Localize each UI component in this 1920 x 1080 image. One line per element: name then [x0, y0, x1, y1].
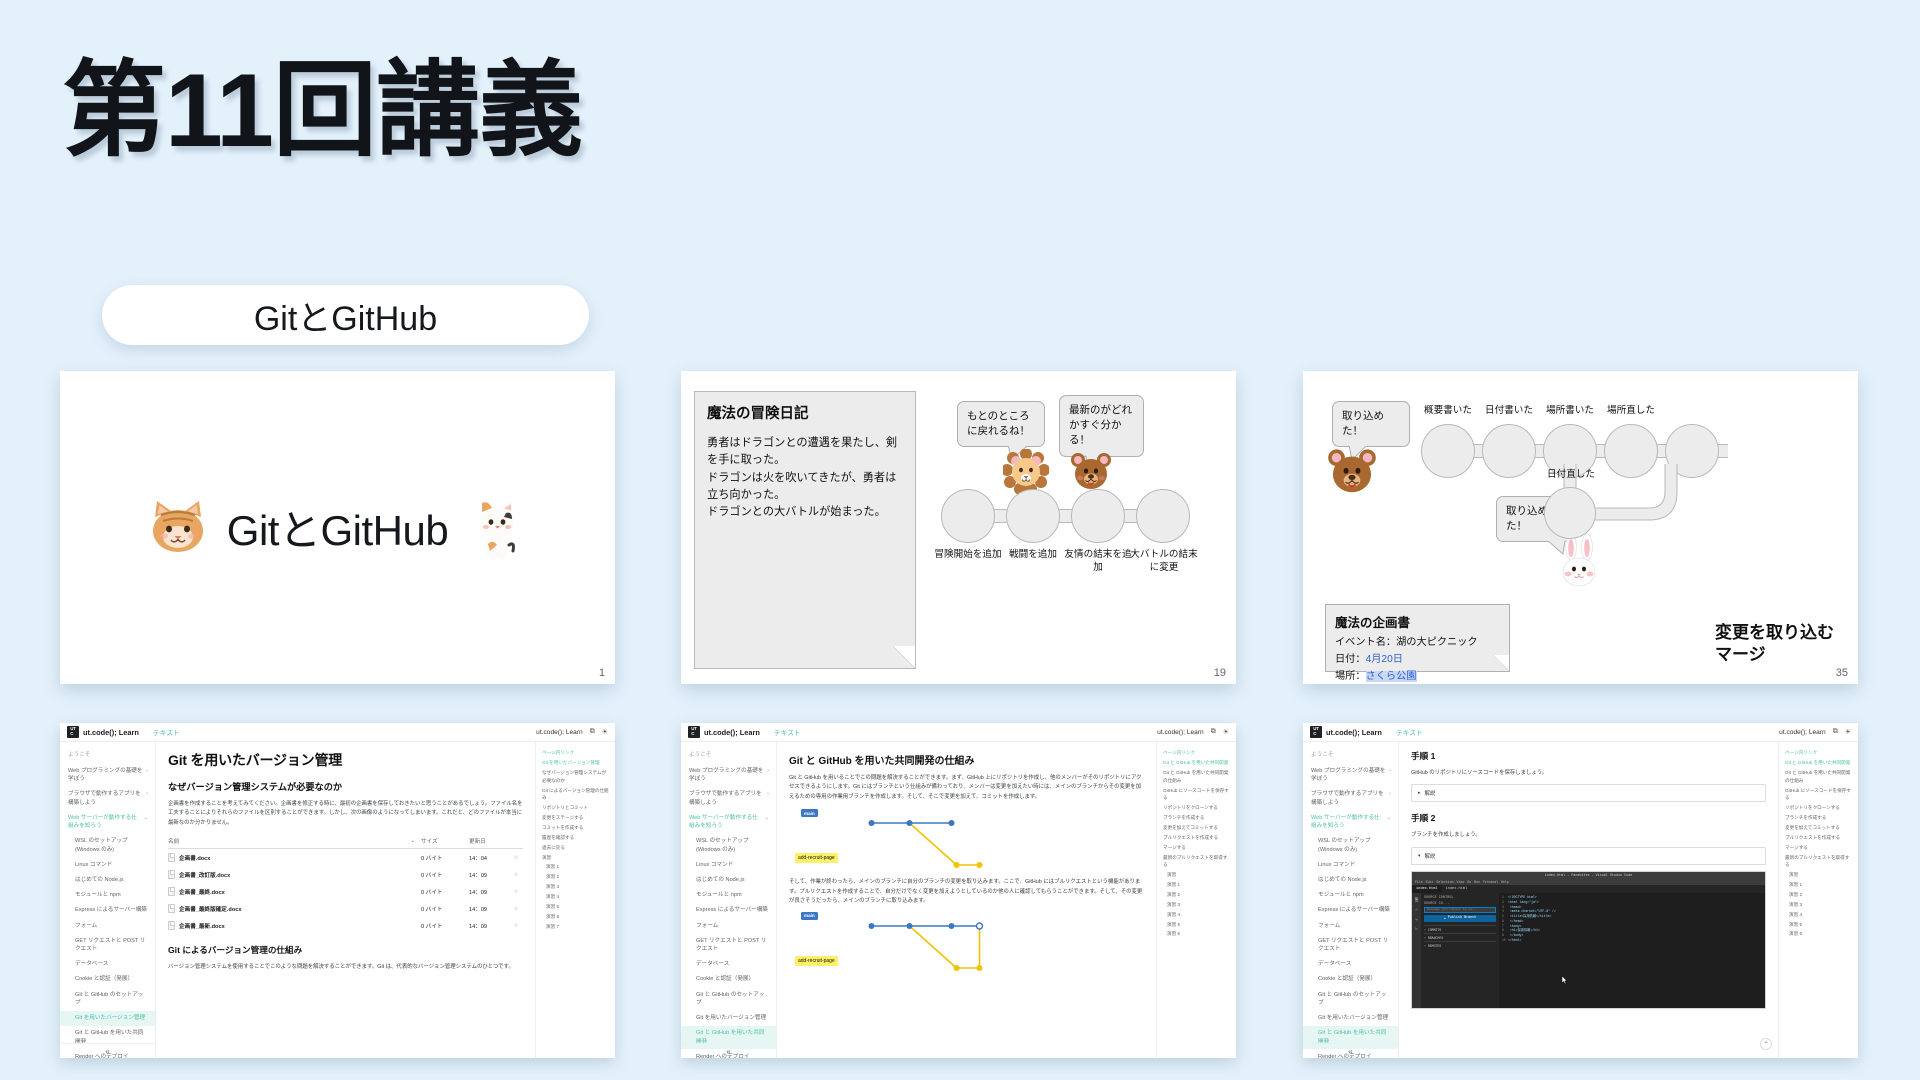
toc-item-8[interactable]: 最新のプルリクエストを取得する	[1785, 854, 1853, 869]
sidebar-item-12[interactable]: Cookie と認証（発展）	[1303, 972, 1398, 987]
toc-item-6[interactable]: プルリクエストを作成する	[1163, 834, 1231, 841]
sidebar-item-label: Express によるサーバー構築	[75, 906, 148, 914]
plan-doc-title: 魔法の企画書	[1335, 612, 1500, 631]
sidebar-item-7[interactable]: モジュールと npm	[681, 888, 776, 903]
plan-doc-row-date: 日付：4月20日	[1335, 650, 1500, 665]
vscode-menu-go[interactable]: Go	[1467, 880, 1471, 884]
sidebar-item-14[interactable]: Git を用いたバージョン管理	[60, 1011, 155, 1026]
page-fold-corner	[893, 646, 915, 668]
sidebar-collapse-button[interactable]: «	[60, 1043, 155, 1056]
file-date-cell: 14：09	[469, 871, 509, 879]
vscode-menu-run[interactable]: Run	[1474, 880, 1480, 884]
table-row[interactable]: 企画書_改訂版.docx0 バイト14：09☆	[168, 866, 523, 883]
sidebar-item-7[interactable]: モジュールと npm	[1303, 888, 1398, 903]
file-name-text: 企画書_改訂版.docx	[179, 871, 230, 879]
utcode-logo-icon: UTC	[688, 726, 700, 738]
sidebar-item-label: データベース	[75, 960, 148, 968]
vscode-screenshot: index.html - Facebites - Visual Studio C…	[1411, 871, 1766, 1009]
sidebar-item-label: GET リクエストと POST リクエスト	[75, 937, 148, 954]
commit-label-3: 友情の結末を追加	[1062, 549, 1134, 575]
speech-bubble-bear: 最新のがどれかすぐ分かる！	[1059, 395, 1144, 457]
sidebar-item-label: ブラウザで動作するアプリを構築しよう	[68, 790, 143, 807]
toc-item-0[interactable]: Git と GitHub を用いた共同開発	[1163, 759, 1231, 766]
vscode-tabbar[interactable]: index.html index.html	[1412, 885, 1765, 893]
sidebar-item-14[interactable]: Git を用いたバージョン管理	[1303, 1011, 1398, 1026]
toc-item-1[interactable]: なぜバージョン管理システムが必要なのか	[542, 769, 610, 784]
branch-graph-2: main add-recruit-page	[789, 912, 1144, 974]
toc-item-15[interactable]: 演習 7	[542, 923, 610, 930]
sidebar-item-13[interactable]: Git と GitHub のセットアップ	[1303, 987, 1398, 1011]
document-icon	[168, 887, 175, 896]
sidebar-item-label: はじめての Node.js	[1318, 876, 1391, 884]
table-row[interactable]: 企画書_最新.docx0 バイト14：09☆	[168, 917, 523, 934]
vscode-source-control-panel: SOURCE CONTROL SOURCE CO... Message (Ctr…	[1421, 893, 1499, 1008]
sidebar-item-label: フォーム	[75, 922, 148, 930]
browser-window-2[interactable]: UTC ut.code(); Learn テキスト ut.code(); Lea…	[681, 723, 1236, 1058]
sidebar-item-label: はじめての Node.js	[696, 876, 769, 884]
sidebar-collapse-button[interactable]: «	[1303, 1043, 1398, 1056]
document-icon	[168, 870, 175, 879]
file-size-cell: 0 バイト	[421, 905, 469, 913]
speech-bubble-lion: もとのところに戻れるね！	[957, 401, 1045, 447]
file-name-text: 企画書_最終.docx	[179, 888, 225, 896]
sidebar-item-11[interactable]: データベース	[60, 957, 155, 972]
chevron-down-icon: ▾	[1418, 853, 1421, 859]
vscode-menu-help[interactable]: Help	[1501, 880, 1509, 884]
files-icon[interactable]: 🗎	[1415, 896, 1419, 904]
toc-item-5[interactable]: 変更を加えてコミットする	[1163, 824, 1231, 831]
toc-item-12[interactable]: 演習 4	[542, 893, 610, 900]
sidebar-item-1[interactable]: Web プログラミングの基礎を学ぼう›	[1303, 763, 1398, 787]
sidebar-item-8[interactable]: Express によるサーバー構築	[681, 903, 776, 918]
scm-header: SOURCE CONTROL	[1424, 895, 1496, 899]
toc-item-14[interactable]: 演習 5	[1163, 921, 1231, 928]
sidebar-item-label: GET リクエストと POST リクエスト	[1318, 937, 1391, 954]
toc-item-3[interactable]: リポジトリをクローンする	[1785, 804, 1853, 811]
doc-heading-2: なぜバージョン管理システムが必要なのか	[168, 779, 523, 793]
vscode-menu-file[interactable]: File	[1415, 880, 1423, 884]
toc-item-4[interactable]: ブランチを作成する	[1785, 814, 1853, 821]
chevron-icon[interactable]: ›	[146, 790, 148, 798]
doc-heading-1: Git と GitHub を用いた共同開発の仕組み	[789, 752, 1144, 767]
slide1-center-text: GitとGitHub	[227, 497, 448, 558]
file-size-cell: 0 バイト	[421, 888, 469, 896]
sidebar-item-label: WSL のセットアップ (Windows のみ)	[75, 837, 148, 854]
chevron-icon[interactable]: ⌄	[764, 814, 769, 822]
file-name-text: 企画書_最終版確定.docx	[179, 905, 241, 913]
file-size-cell: 0 バイト	[421, 871, 469, 879]
vscode-editor[interactable]: 1<!DOCTYPE html>2<html lang="ja">3 <head…	[1499, 893, 1765, 1008]
step1-accordion[interactable]: ▸ 解説	[1411, 784, 1766, 802]
toc-item-9[interactable]: 演習	[1163, 871, 1231, 878]
sidebar-item-label: ようこそ	[1311, 751, 1391, 759]
commit-node-4	[1136, 489, 1190, 543]
nav-link-text[interactable]: テキスト	[774, 727, 801, 737]
slide-thumbnail-1[interactable]: GitとGitHub 1	[60, 371, 615, 684]
theme-toggle-icon[interactable]: ☀	[1845, 728, 1851, 736]
search-icon[interactable]: ⌕	[1415, 908, 1418, 913]
sidebar-item-label: モジュールと npm	[1318, 891, 1391, 899]
utcode-logo-icon: UTC	[67, 726, 79, 738]
slide-thumbnail-19[interactable]: 魔法の冒険日記 勇者はドラゴンとの遭遇を果たし、剣を手に取った。 ドラゴンは火を…	[681, 371, 1236, 684]
file-name-cell: 企画書_最終版確定.docx	[168, 904, 421, 913]
sidebar-item-4[interactable]: WSL のセットアップ (Windows のみ)	[1303, 834, 1398, 858]
site-name-right: ut.code(); Learn	[1779, 729, 1826, 736]
bear-icon	[1070, 451, 1112, 493]
toc-item-11[interactable]: 演習 2	[1163, 891, 1231, 898]
page-title: 第11回講義	[62, 52, 582, 172]
sidebar-item-label: Git を用いたバージョン管理	[696, 1014, 769, 1022]
sidebar-item-label: フォーム	[696, 922, 769, 930]
toc-item-10[interactable]: 演習 2	[542, 873, 610, 880]
sidebar-item-13[interactable]: Git と GitHub のセットアップ	[60, 987, 155, 1011]
chevron-icon[interactable]: ›	[1389, 790, 1391, 798]
chevron-icon[interactable]: ›	[767, 767, 769, 775]
sidebar-item-label: データベース	[696, 960, 769, 968]
sidebar-item-6[interactable]: はじめての Node.js	[60, 873, 155, 888]
site-header: UTC ut.code(); Learn テキスト ut.code(); Lea…	[681, 723, 1236, 742]
sidebar-item-label: フォーム	[1318, 922, 1391, 930]
theme-toggle-icon[interactable]: ☀	[602, 728, 608, 736]
slide-thumbnail-35[interactable]: 取り込めた！ 取り込めた！	[1303, 371, 1858, 684]
cloud-upload-icon: ☁	[1444, 916, 1446, 921]
sidebar-item-5[interactable]: Linux コマンド	[681, 857, 776, 872]
sidebar-item-label: Git を用いたバージョン管理	[1318, 1014, 1391, 1022]
sidebar-item-label: ようこそ	[689, 751, 769, 759]
sidebar-item-5[interactable]: Linux コマンド	[1303, 857, 1398, 872]
toc-item-4[interactable]: ブランチを作成する	[1163, 814, 1231, 821]
toc-item-2[interactable]: Git によるバージョン管理の仕組み	[542, 787, 610, 802]
vscode-menu-edit[interactable]: Edit	[1426, 880, 1434, 884]
step1-text: GitHub のリポジトリにソースコードを保存しましょう。	[1411, 769, 1766, 778]
sidebar-item-12[interactable]: Cookie と認証（発展）	[681, 972, 776, 987]
commit-message-input[interactable]: Message (Ctrl+Enter to co...	[1424, 907, 1496, 913]
toc-panel-3[interactable]: ページ内リンクGit と GitHub を用いた共同開発Git と GitHub…	[1778, 742, 1858, 1058]
file-name-text: 企画書.docx	[179, 854, 210, 862]
sidebar-item-0[interactable]: ようこそ	[60, 748, 155, 763]
document-icon	[168, 921, 175, 930]
vscode-window-title: index.html - Facebites - Visual Studio C…	[1545, 874, 1633, 878]
toc-item-13[interactable]: 演習 4	[1163, 911, 1231, 918]
doc-content-3: 手順 1 GitHub のリポジトリにソースコードを保存しましょう。 ▸ 解説 …	[1399, 742, 1778, 1058]
sidebar-item-10[interactable]: GET リクエストと POST リクエスト	[681, 933, 776, 957]
main-commit-label-4: 場所直した	[1594, 405, 1668, 418]
sidebar-item-2[interactable]: ブラウザで動作するアプリを構築しよう›	[60, 787, 155, 811]
toc-item-3[interactable]: リポジトリをクローンする	[1163, 804, 1231, 811]
nav-link-text[interactable]: テキスト	[1396, 727, 1423, 737]
star-icon[interactable]: ☆	[509, 906, 523, 912]
sidebar-item-4[interactable]: WSL のセットアップ (Windows のみ)	[60, 834, 155, 858]
run-debug-icon[interactable]: ▷	[1415, 927, 1418, 932]
sidebar-item-8[interactable]: Express によるサーバー構築	[60, 903, 155, 918]
chevron-icon[interactable]: ⌄	[1386, 814, 1391, 822]
plan-doc-row-place: 場所：さくら公園	[1335, 667, 1500, 682]
vscode-menu-selection[interactable]: Selection	[1436, 880, 1453, 884]
step2-text: ブランチを作成しましょう。	[1411, 831, 1766, 840]
plan-document-card: 魔法の企画書 イベント名：湖の大ピクニック 日付：4月20日 場所：さくら公園	[1325, 604, 1510, 672]
toc-item-6[interactable]: 履歴を確認する	[542, 834, 610, 841]
scroll-to-top-button[interactable]: ⌃	[1760, 1038, 1772, 1050]
toc-item-4[interactable]: 変更をステージする	[542, 814, 610, 821]
sidebar-item-0[interactable]: ようこそ	[1303, 748, 1398, 763]
vscode-tab-1[interactable]: index.html	[1412, 885, 1442, 893]
star-icon[interactable]: ☆	[509, 923, 523, 929]
sidebar-nav[interactable]: ようこそWeb プログラミングの基礎を学ぼう›ブラウザで動作するアプリを構築しよ…	[681, 742, 777, 1058]
file-date-cell: 14：09	[469, 888, 509, 896]
table-row[interactable]: 企画書_最終版確定.docx0 バイト14：09☆	[168, 900, 523, 917]
diary-title: 魔法の冒険日記	[707, 402, 903, 423]
toc-item-14[interactable]: 演習 5	[1785, 921, 1853, 928]
sidebar-item-7[interactable]: モジュールと npm	[60, 888, 155, 903]
file-size-cell: 0 バイト	[421, 854, 469, 862]
sidebar-item-1[interactable]: Web プログラミングの基礎を学ぼう›	[60, 763, 155, 787]
site-name: ut.code(); Learn	[704, 728, 760, 737]
commit-edge	[970, 509, 1156, 523]
sidebar-item-9[interactable]: フォーム	[1303, 918, 1398, 933]
sidebar-collapse-button[interactable]: «	[681, 1043, 776, 1056]
sidebar-item-0[interactable]: ようこそ	[681, 748, 776, 763]
sidebar-item-label: モジュールと npm	[75, 891, 148, 899]
commit-node-2	[1006, 489, 1060, 543]
sidebar-item-label: WSL のセットアップ (Windows のみ)	[696, 837, 769, 854]
site-name: ut.code(); Learn	[1326, 728, 1382, 737]
commit-node-3	[1071, 489, 1125, 543]
chevron-icon[interactable]: ›	[146, 767, 148, 775]
toc-item-9[interactable]: 演習 1	[542, 863, 610, 870]
commit-label-2: 戦闘を追加	[997, 549, 1069, 562]
sidebar-item-label: Web プログラミングの基礎を学ぼう	[68, 767, 143, 784]
slide-number: 35	[1836, 667, 1848, 679]
sidebar-item-label: Web サーバーが動作する仕組みを知ろう	[689, 814, 761, 831]
document-icon	[168, 904, 175, 913]
slide-number: 1	[599, 667, 605, 679]
sidebar-item-9[interactable]: フォーム	[60, 918, 155, 933]
toc-item-0[interactable]: Git と GitHub を用いた共同開発	[1785, 759, 1853, 766]
sidebar-item-3[interactable]: Web サーバーが動作する仕組みを知ろう⌄	[681, 810, 776, 834]
browser-window-3[interactable]: UTC ut.code(); Learn テキスト ut.code(); Lea…	[1303, 723, 1858, 1058]
sidebar-item-2[interactable]: ブラウザで動作するアプリを構築しよう›	[1303, 787, 1398, 811]
sidebar-item-13[interactable]: Git と GitHub のセットアップ	[681, 987, 776, 1011]
merge-caption: 変更を取り込む マージ	[1715, 622, 1834, 666]
sidebar-item-label: Linux コマンド	[1318, 861, 1391, 869]
step2-accordion[interactable]: ▾ 解説	[1411, 847, 1766, 865]
file-table: 名前⌄ サイズ 更新日 企画書.docx0 バイト14：04☆企画書_改訂版.d…	[168, 837, 523, 934]
toc-item-12[interactable]: 演習 3	[1163, 901, 1231, 908]
file-date-cell: 14：09	[469, 905, 509, 913]
sidebar-item-11[interactable]: データベース	[1303, 957, 1398, 972]
calico-cat-icon	[466, 495, 528, 561]
adventure-diary-card: 魔法の冒険日記 勇者はドラゴンとの遭遇を果たし、剣を手に取った。 ドラゴンは火を…	[694, 391, 916, 669]
sidebar-item-9[interactable]: フォーム	[681, 918, 776, 933]
sidebar-item-label: はじめての Node.js	[75, 876, 148, 884]
toc-item-9[interactable]: 演習	[1785, 871, 1853, 878]
document-icon	[168, 853, 175, 862]
doc-paragraph-2: バージョン管理システムを使用することでこのような問題を解決することができます。G…	[168, 963, 523, 972]
toc-item-10[interactable]: 演習 1	[1785, 881, 1853, 888]
vscode-activitybar[interactable]: 🗎 ⌕ ⑂ ▷	[1412, 893, 1421, 1008]
toc-item-13[interactable]: 演習 5	[542, 903, 610, 910]
sidebar-item-label: Linux コマンド	[696, 861, 769, 869]
sidebar-item-10[interactable]: GET リクエストと POST リクエスト	[1303, 933, 1398, 957]
vscode-tab-2[interactable]: index.html	[1442, 885, 1472, 893]
vscode-section-branches[interactable]: › BRANCHES	[1424, 933, 1496, 941]
sidebar-nav[interactable]: ようこそWeb プログラミングの基礎を学ぼう›ブラウザで動作するアプリを構築しよ…	[1303, 742, 1399, 1058]
site-name-right: ut.code(); Learn	[536, 729, 583, 736]
feature-branch-tag: add-recruit-page	[795, 853, 838, 863]
bear-icon	[1327, 447, 1377, 497]
graph-lines	[789, 809, 1144, 871]
sidebar-item-11[interactable]: データベース	[681, 957, 776, 972]
star-icon[interactable]: ☆	[509, 855, 523, 861]
toc-item-5[interactable]: 変更を加えてコミットする	[1785, 824, 1853, 831]
toc-item-5[interactable]: コミットを作成する	[542, 824, 610, 831]
vscode-section-commits[interactable]: › COMMITS	[1424, 925, 1496, 933]
toc-item-10[interactable]: 演習 1	[1163, 881, 1231, 888]
sidebar-item-3[interactable]: Web サーバーが動作する仕組みを知ろう⌄	[1303, 810, 1398, 834]
subtitle-pill-label: GitとGitHub	[254, 291, 437, 340]
vscode-section-remotes[interactable]: › REMOTES	[1424, 941, 1496, 949]
sidebar-nav[interactable]: ようこそWeb プログラミングの基礎を学ぼう›ブラウザで動作するアプリを構築しよ…	[60, 742, 156, 1058]
toc-item-14[interactable]: 演習 6	[542, 913, 610, 920]
doc-paragraph-1: 企画書を作成することを考えてみてください。企画書を修正する時に、最初の企画書を保…	[168, 800, 523, 828]
toc-item-7[interactable]: 過去に戻る	[542, 844, 610, 851]
publish-branch-button[interactable]: ☁ Publish Branch	[1424, 915, 1496, 922]
source-control-icon[interactable]: ⑂	[1415, 917, 1418, 923]
external-link-icon[interactable]: ⧉	[1833, 728, 1838, 736]
toc-item-11[interactable]: 演習 2	[1785, 891, 1853, 898]
browser-window-1[interactable]: UTC ut.code(); Learn テキスト ut.code(); Lea…	[60, 723, 615, 1058]
toc-item-13[interactable]: 演習 4	[1785, 911, 1853, 918]
star-icon[interactable]: ☆	[509, 872, 523, 878]
subtitle-pill: GitとGitHub	[102, 285, 589, 345]
chevron-icon[interactable]: ⌄	[143, 814, 148, 822]
doc-content-1: Git を用いたバージョン管理 なぜバージョン管理システムが必要なのか 企画書を…	[156, 742, 535, 1058]
branch-graph-1: main add-recruit-page	[789, 809, 1144, 871]
theme-toggle-icon[interactable]: ☀	[1223, 728, 1229, 736]
doc-paragraph-2: そして、作業が終わったら、メインのブランチに自分のブランチの変更を取り込みます。…	[789, 878, 1144, 906]
star-icon[interactable]: ☆	[509, 889, 523, 895]
vscode-titlebar: index.html - Facebites - Visual Studio C…	[1412, 872, 1765, 880]
sidebar-item-1[interactable]: Web プログラミングの基礎を学ぼう›	[681, 763, 776, 787]
sidebar-item-3[interactable]: Web サーバーが動作する仕組みを知ろう⌄	[60, 810, 155, 834]
sidebar-item-label: モジュールと npm	[696, 891, 769, 899]
sidebar-item-10[interactable]: GET リクエストと POST リクエスト	[60, 933, 155, 957]
table-row[interactable]: 企画書_最終.docx0 バイト14：09☆	[168, 883, 523, 900]
toc-item-15[interactable]: 演習 6	[1785, 930, 1853, 937]
file-name-cell: 企画書_最新.docx	[168, 921, 421, 930]
plan-doc-row-event: イベント名：湖の大ピクニック	[1335, 633, 1500, 648]
sidebar-item-5[interactable]: Linux コマンド	[60, 857, 155, 872]
table-row[interactable]: 企画書.docx0 バイト14：04☆	[168, 849, 523, 866]
chevron-icon[interactable]: ›	[767, 790, 769, 798]
speech-bubble-bear: 取り込めた！	[1332, 401, 1410, 447]
toc-item-15[interactable]: 演習 6	[1163, 930, 1231, 937]
step2-title: 手順 2	[1411, 812, 1766, 824]
toc-heading: ページ内リンク	[1163, 749, 1231, 756]
sidebar-item-label: データベース	[1318, 960, 1391, 968]
sidebar-item-2[interactable]: ブラウザで動作するアプリを構築しよう›	[681, 787, 776, 811]
sidebar-item-label: Git と GitHub のセットアップ	[1318, 991, 1391, 1008]
file-name-cell: 企画書_改訂版.docx	[168, 870, 421, 879]
doc-content-2: Git と GitHub を用いた共同開発の仕組み Git と GitHub を…	[777, 742, 1156, 1058]
site-name: ut.code(); Learn	[83, 728, 139, 737]
sidebar-item-label: Git と GitHub のセットアップ	[696, 991, 769, 1008]
file-date-cell: 14：04	[469, 854, 509, 862]
toc-item-6[interactable]: プルリクエストを作成する	[1785, 834, 1853, 841]
sort-chevron-icon[interactable]: ⌄	[410, 838, 415, 844]
sidebar-item-8[interactable]: Express によるサーバー構築	[1303, 903, 1398, 918]
toc-item-8[interactable]: 演習	[542, 854, 610, 861]
sidebar-item-6[interactable]: はじめての Node.js	[1303, 873, 1398, 888]
mouse-cursor-icon	[1562, 976, 1568, 985]
site-header: UTC ut.code(); Learn テキスト ut.code(); Lea…	[1303, 723, 1858, 742]
toc-item-3[interactable]: リポジトリとコミット	[542, 804, 610, 811]
sidebar-item-label: Express によるサーバー構築	[696, 906, 769, 914]
sidebar-item-label: ブラウザで動作するアプリを構築しよう	[689, 790, 764, 807]
toc-item-8[interactable]: 最新のプルリクエストを取得する	[1163, 854, 1231, 869]
file-name-cell: 企画書_最終.docx	[168, 887, 421, 896]
sidebar-item-14[interactable]: Git を用いたバージョン管理	[681, 1011, 776, 1026]
toc-item-0[interactable]: Git を用いたバージョン管理	[542, 759, 610, 766]
toc-heading: ページ内リンク	[542, 749, 610, 756]
nav-link-text[interactable]: テキスト	[153, 727, 180, 737]
toc-item-12[interactable]: 演習 3	[1785, 901, 1853, 908]
sidebar-item-label: Linux コマンド	[75, 861, 148, 869]
sidebar-item-label: ブラウザで動作するアプリを構築しよう	[1311, 790, 1386, 807]
chevron-right-icon: ▸	[1418, 790, 1421, 796]
sidebar-item-label: Web サーバーが動作する仕組みを知ろう	[68, 814, 140, 831]
toc-panel-2[interactable]: ページ内リンクGit と GitHub を用いた共同開発Git と GitHub…	[1156, 742, 1236, 1058]
scm-source-label: SOURCE CO...	[1424, 901, 1496, 905]
branch-commit-node-1	[1544, 487, 1596, 539]
vscode-menu-view[interactable]: View	[1457, 880, 1465, 884]
sidebar-item-label: Express によるサーバー構築	[1318, 906, 1391, 914]
toc-item-1[interactable]: Git と GitHub を用いた共同開発の仕組み	[1163, 769, 1231, 784]
lion-icon	[1003, 449, 1049, 495]
toc-item-1[interactable]: Git と GitHub を用いた共同開発の仕組み	[1785, 769, 1853, 784]
toc-item-11[interactable]: 演習 3	[542, 883, 610, 890]
vscode-menu-terminal[interactable]: Terminal	[1483, 880, 1498, 884]
toc-heading: ページ内リンク	[1785, 749, 1853, 756]
toc-panel-1[interactable]: ページ内リンクGit を用いたバージョン管理なぜバージョン管理システムが必要なの…	[535, 742, 615, 1058]
external-link-icon[interactable]: ⧉	[590, 728, 595, 736]
file-name-cell: 企画書.docx	[168, 853, 421, 862]
file-date-cell: 14：09	[469, 922, 509, 930]
chevron-icon[interactable]: ›	[1389, 767, 1391, 775]
toc-item-2[interactable]: GitHub にソースコードを保存する	[1785, 787, 1853, 802]
sidebar-item-label: Cookie と認証（発展）	[75, 975, 148, 983]
toc-item-7[interactable]: マージする	[1163, 844, 1231, 851]
commit-label-4: 大バトルの結末に変更	[1127, 549, 1201, 575]
sidebar-item-label: Cookie と認証（発展）	[696, 975, 769, 983]
sidebar-item-6[interactable]: はじめての Node.js	[681, 873, 776, 888]
sidebar-item-label: Web プログラミングの基礎を学ぼう	[689, 767, 764, 784]
sidebar-item-4[interactable]: WSL のセットアップ (Windows のみ)	[681, 834, 776, 858]
toc-item-7[interactable]: マージする	[1785, 844, 1853, 851]
sidebar-item-label: Web プログラミングの基礎を学ぼう	[1311, 767, 1386, 784]
branch-commit-label-1: 日付直した	[1536, 469, 1606, 482]
external-link-icon[interactable]: ⧉	[1211, 728, 1216, 736]
sidebar-item-label: Git を用いたバージョン管理	[75, 1014, 148, 1022]
file-size-cell: 0 バイト	[421, 922, 469, 930]
toc-item-2[interactable]: GitHub にソースコードを保存する	[1163, 787, 1231, 802]
sidebar-item-label: Web サーバーが動作する仕組みを知ろう	[1311, 814, 1383, 831]
page-fold-corner	[1493, 655, 1509, 671]
step1-title: 手順 1	[1411, 750, 1766, 762]
sidebar-item-label: Cookie と認証（発展）	[1318, 975, 1391, 983]
sidebar-item-12[interactable]: Cookie と認証（発展）	[60, 972, 155, 987]
site-header: UTC ut.code(); Learn テキスト ut.code(); Lea…	[60, 723, 615, 742]
